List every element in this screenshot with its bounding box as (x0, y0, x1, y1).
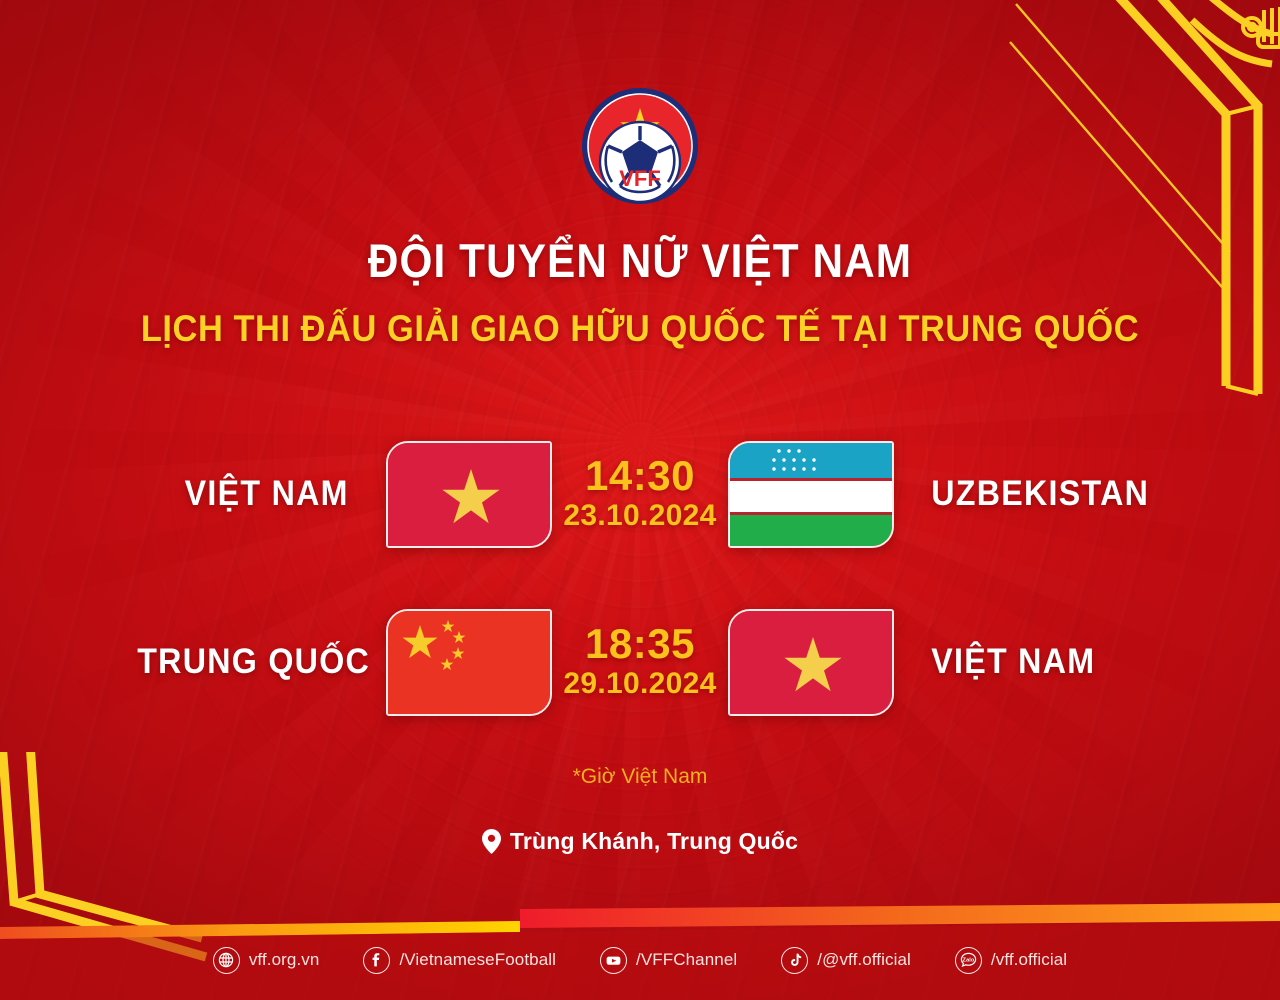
home-team-name: TRUNG QUỐC (137, 642, 349, 682)
page-title: ĐỘI TUYỂN NỮ VIỆT NAM (64, 233, 1216, 288)
social-link-tiktok[interactable]: /@vff.official (781, 947, 911, 974)
zalo-icon: Zalo (955, 947, 982, 974)
kickoff-time: 18:35 (556, 623, 724, 666)
venue-note: Trùng Khánh, Trung Quốc (0, 828, 1280, 855)
goalpost-decoration-top-right (980, 0, 1280, 414)
match-kickoff: 18:35 29.10.2024 (552, 623, 728, 701)
svg-text:Zalo: Zalo (962, 957, 974, 963)
social-label: /VietnameseFootball (399, 950, 556, 970)
social-link-zalo[interactable]: Zalo /vff.official (955, 947, 1067, 974)
kickoff-time: 14:30 (556, 455, 724, 498)
tiktok-icon (781, 947, 808, 974)
vff-logo-text: VFF (619, 166, 661, 191)
timezone-note: *Giờ Việt Nam (0, 765, 1280, 789)
vietnam-flag (728, 609, 894, 716)
match-kickoff: 14:30 23.10.2024 (552, 455, 728, 533)
location-pin-icon (482, 829, 501, 854)
vff-schedule-poster: VFF ĐỘI TUYỂN NỮ VIỆT NAM LỊCH THI ĐẤU G… (0, 0, 1280, 1000)
match-row: TRUNG QUỐC 18:35 29. (0, 578, 1280, 746)
social-label: /VFFChannel (636, 950, 737, 970)
away-team-name: UZBEKISTAN (931, 474, 1143, 514)
vff-logo: VFF (580, 86, 700, 206)
facebook-icon (363, 947, 390, 974)
social-label: vff.org.vn (249, 950, 320, 970)
match-row: VIỆT NAM 14:30 23.10.2024 (0, 410, 1280, 578)
social-link-website[interactable]: vff.org.vn (213, 947, 320, 974)
social-link-youtube[interactable]: /VFFChannel (600, 947, 737, 974)
vietnam-flag (386, 441, 552, 548)
match-list: VIỆT NAM 14:30 23.10.2024 (0, 410, 1280, 746)
home-team-name: VIỆT NAM (137, 474, 349, 514)
page-subtitle: LỊCH THI ĐẤU GIẢI GIAO HỮU QUỐC TẾ TẠI T… (45, 308, 1235, 350)
kickoff-date: 23.10.2024 (556, 498, 724, 533)
social-label: /@vff.official (817, 950, 911, 970)
uzbekistan-flag (728, 441, 894, 548)
globe-icon (213, 947, 240, 974)
social-label: /vff.official (991, 950, 1067, 970)
social-footer: vff.org.vn /VietnameseFootball /VFFChann… (0, 938, 1280, 982)
china-flag (386, 609, 552, 716)
youtube-icon (600, 947, 627, 974)
social-link-facebook[interactable]: /VietnameseFootball (363, 947, 556, 974)
away-team-name: VIỆT NAM (931, 642, 1143, 682)
venue-label: Trùng Khánh, Trung Quốc (510, 828, 798, 855)
kickoff-date: 29.10.2024 (556, 666, 724, 701)
